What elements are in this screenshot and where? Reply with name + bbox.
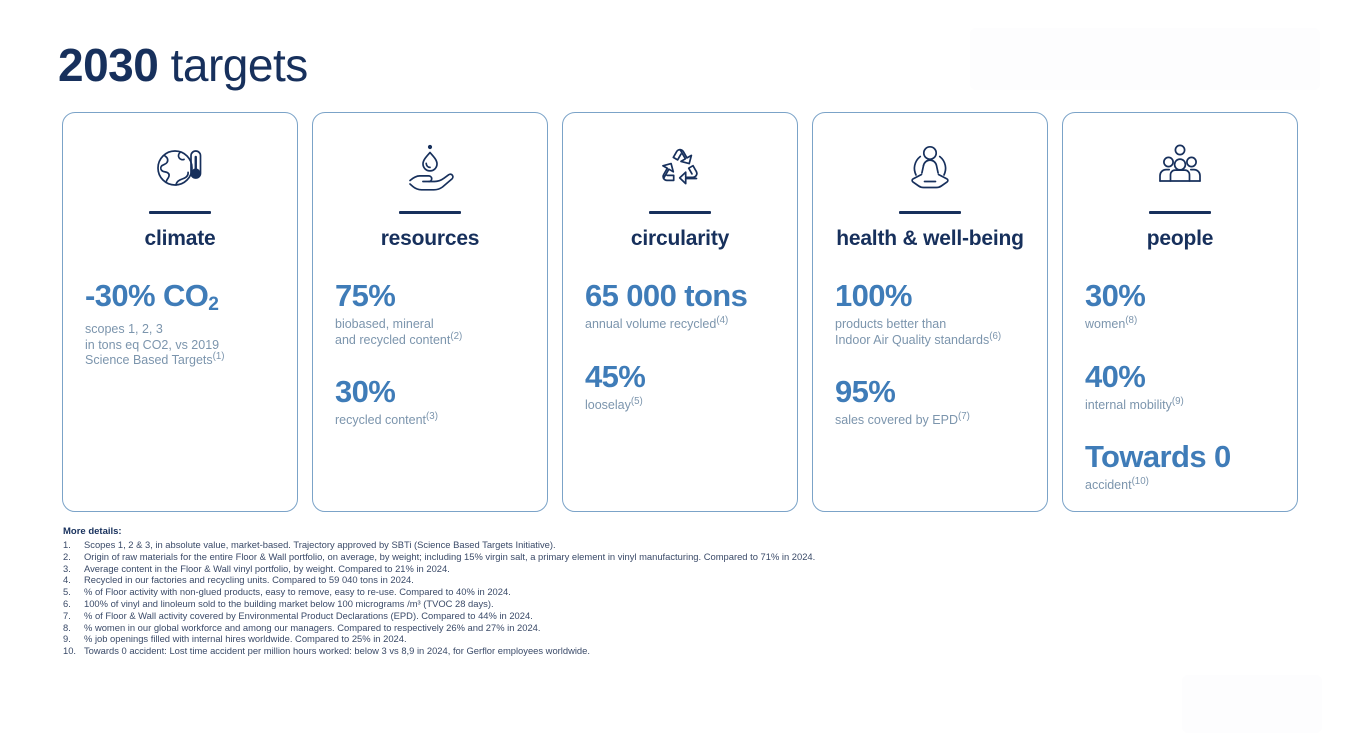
stat-description: annual volume recycled(4)	[585, 317, 775, 333]
footnote-text: % of Floor activity with non-glued produ…	[84, 586, 1293, 598]
water-drop-hand-icon	[335, 139, 525, 197]
stat-value-subscript: 2	[208, 294, 218, 315]
stat-description: scopes 1, 2, 3 in tons eq CO2, vs 2019 S…	[85, 322, 275, 369]
footnote-number: 5.	[63, 586, 84, 598]
stat-description: recycled content(3)	[335, 413, 525, 429]
footnote-ref: (1)	[213, 351, 225, 362]
stat-description: sales covered by EPD(7)	[835, 413, 1025, 429]
footnote-number: 7.	[63, 610, 84, 622]
footnote-ref: (9)	[1172, 395, 1184, 406]
stat-value: 65 000 tons	[585, 278, 775, 314]
footnote-text: Origin of raw materials for the entire F…	[84, 551, 1293, 563]
stat-item: 30% recycled content(3)	[335, 374, 525, 429]
footnote-item: 5.% of Floor activity with non-glued pro…	[63, 586, 1293, 598]
footnote-ref: (8)	[1125, 315, 1137, 326]
card-stats-resources: 75% biobased, mineral and recycled conte…	[335, 278, 525, 429]
target-card-circularity[interactable]: circularity 65 000 tons annual volume re…	[562, 112, 798, 512]
stat-item: Towards 0 accident(10)	[1085, 439, 1275, 494]
footnote-ref: (5)	[631, 395, 643, 406]
card-title-people: people	[1085, 226, 1275, 252]
target-card-resources[interactable]: resources 75% biobased, mineral and recy…	[312, 112, 548, 512]
targets-infographic-page: 2030 targets climate -30% CO2	[0, 0, 1360, 750]
people-group-icon	[1085, 139, 1275, 197]
stat-description: products better than Indoor Air Quality …	[835, 317, 1025, 348]
footnote-number: 3.	[63, 563, 84, 575]
page-title-word: targets	[158, 39, 307, 91]
stat-item: 75% biobased, mineral and recycled conte…	[335, 278, 525, 348]
stat-description: looselay(5)	[585, 398, 775, 414]
targets-card-row: climate -30% CO2 scopes 1, 2, 3 in tons …	[62, 112, 1298, 512]
card-title-climate: climate	[85, 226, 275, 252]
footnote-ref: (7)	[958, 411, 970, 422]
target-card-climate[interactable]: climate -30% CO2 scopes 1, 2, 3 in tons …	[62, 112, 298, 512]
footnote-number: 10.	[63, 645, 84, 657]
stat-item: 65 000 tons annual volume recycled(4)	[585, 278, 775, 333]
footnote-number: 1.	[63, 539, 84, 551]
stat-item: 40% internal mobility(9)	[1085, 359, 1275, 414]
card-divider-climate	[149, 211, 211, 214]
card-title-resources: resources	[335, 226, 525, 252]
target-card-people[interactable]: people 30% women(8) 40% internal mobilit…	[1062, 112, 1298, 512]
footnote-number: 6.	[63, 598, 84, 610]
stat-item: 45% looselay(5)	[585, 359, 775, 414]
footnote-text: % of Floor & Wall activity covered by En…	[84, 610, 1293, 622]
stat-description: women(8)	[1085, 317, 1275, 333]
watermark-top-right	[970, 28, 1320, 90]
meditation-icon	[835, 139, 1025, 197]
card-divider-circularity	[649, 211, 711, 214]
globe-thermometer-icon	[85, 139, 275, 197]
footnote-number: 8.	[63, 622, 84, 634]
stat-value: -30% CO2	[85, 278, 275, 319]
footnote-item: 3.Average content in the Floor & Wall vi…	[63, 563, 1293, 575]
page-title-year: 2030	[58, 39, 158, 91]
footnote-text: % women in our global workforce and amon…	[84, 622, 1293, 634]
stat-description: biobased, mineral and recycled content(2…	[335, 317, 525, 348]
footnote-item: 7.% of Floor & Wall activity covered by …	[63, 610, 1293, 622]
stat-item: 95% sales covered by EPD(7)	[835, 374, 1025, 429]
stat-value: 75%	[335, 278, 525, 314]
footnote-number: 9.	[63, 633, 84, 645]
stat-value: Towards 0	[1085, 439, 1275, 475]
stat-item: 100% products better than Indoor Air Qua…	[835, 278, 1025, 348]
card-stats-circularity: 65 000 tons annual volume recycled(4) 45…	[585, 278, 775, 413]
footnote-number: 4.	[63, 574, 84, 586]
footnote-ref: (6)	[989, 330, 1001, 341]
footnote-ref: (3)	[426, 411, 438, 422]
stat-description: internal mobility(9)	[1085, 398, 1275, 414]
stat-item: -30% CO2 scopes 1, 2, 3 in tons eq CO2, …	[85, 278, 275, 369]
footnote-ref: (4)	[716, 315, 728, 326]
footnotes-block: More details: 1.Scopes 1, 2 & 3, in abso…	[63, 525, 1293, 657]
card-divider-people	[1149, 211, 1211, 214]
footnote-item: 10.Towards 0 accident: Lost time acciden…	[63, 645, 1293, 657]
footnote-number: 2.	[63, 551, 84, 563]
card-title-circularity: circularity	[585, 226, 775, 252]
footnote-item: 9.% job openings filled with internal hi…	[63, 633, 1293, 645]
stat-description: accident(10)	[1085, 478, 1275, 494]
footnote-ref: (10)	[1132, 476, 1149, 487]
stat-value: 100%	[835, 278, 1025, 314]
card-divider-resources	[399, 211, 461, 214]
footnote-text: Recycled in our factories and recycling …	[84, 574, 1293, 586]
stat-value: 95%	[835, 374, 1025, 410]
footnote-item: 2.Origin of raw materials for the entire…	[63, 551, 1293, 563]
footnote-text: Scopes 1, 2 & 3, in absolute value, mark…	[84, 539, 1293, 551]
footnote-text: % job openings filled with internal hire…	[84, 633, 1293, 645]
stat-item: 30% women(8)	[1085, 278, 1275, 333]
recycling-icon	[585, 139, 775, 197]
watermark-bottom-right	[1182, 675, 1322, 733]
target-card-health-well-being[interactable]: health & well-being 100% products better…	[812, 112, 1048, 512]
footnote-item: 1.Scopes 1, 2 & 3, in absolute value, ma…	[63, 539, 1293, 551]
footnote-item: 8.% women in our global workforce and am…	[63, 622, 1293, 634]
stat-value: 30%	[1085, 278, 1275, 314]
footnote-item: 4.Recycled in our factories and recyclin…	[63, 574, 1293, 586]
card-stats-people: 30% women(8) 40% internal mobility(9) To…	[1085, 278, 1275, 494]
stat-value: 30%	[335, 374, 525, 410]
footnote-ref: (2)	[450, 330, 462, 341]
stat-value: 40%	[1085, 359, 1275, 395]
page-title: 2030 targets	[58, 36, 308, 94]
footnote-text: Average content in the Floor & Wall viny…	[84, 563, 1293, 575]
card-title-health-well-being: health & well-being	[835, 226, 1025, 252]
card-stats-health-well-being: 100% products better than Indoor Air Qua…	[835, 278, 1025, 429]
footnote-text: Towards 0 accident: Lost time accident p…	[84, 645, 1293, 657]
card-stats-climate: -30% CO2 scopes 1, 2, 3 in tons eq CO2, …	[85, 278, 275, 369]
card-divider-health	[899, 211, 961, 214]
footnotes-heading: More details:	[63, 525, 1293, 538]
footnotes-list: 1.Scopes 1, 2 & 3, in absolute value, ma…	[63, 539, 1293, 657]
stat-value: 45%	[585, 359, 775, 395]
footnote-text: 100% of vinyl and linoleum sold to the b…	[84, 598, 1293, 610]
footnote-item: 6.100% of vinyl and linoleum sold to the…	[63, 598, 1293, 610]
